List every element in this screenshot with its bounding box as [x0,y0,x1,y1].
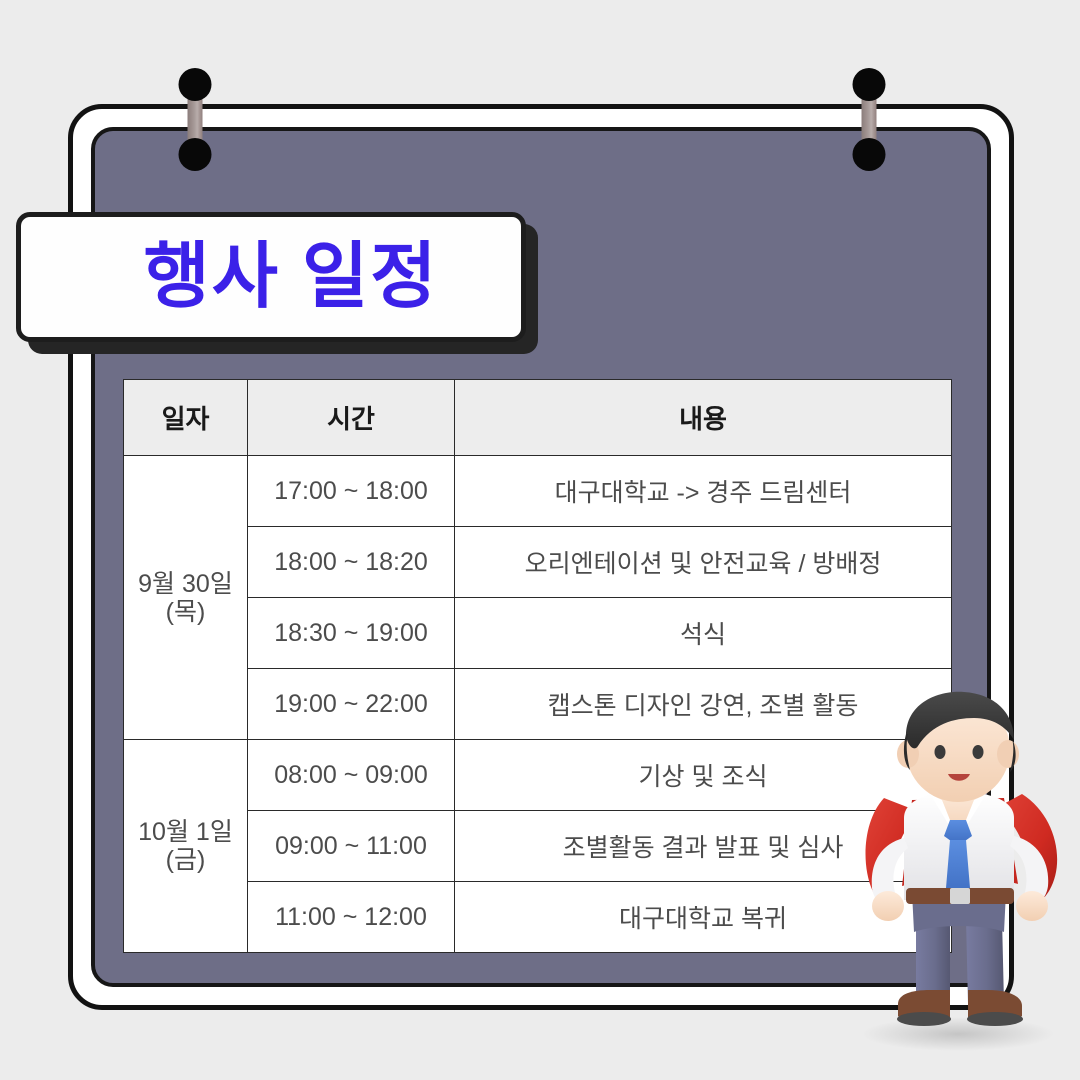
mascot-character [846,688,1072,1058]
hand-right [1016,891,1048,921]
shoe-left-sole [897,1012,951,1026]
cell-time: 09:00 ~ 11:00 [248,811,455,882]
pin-knob-top [178,68,211,101]
date-weekday: (목) [125,598,246,626]
table-header-row: 일자 시간 내용 [124,380,952,456]
table-row: 11:00 ~ 12:00 대구대학교 복귀 [124,882,952,953]
column-header-desc: 내용 [455,380,952,456]
table-row: 09:00 ~ 11:00 조별활동 결과 발표 및 심사 [124,811,952,882]
pin-knob-top [852,68,885,101]
date-value: 10월 1일 [138,818,233,846]
table-row: 18:00 ~ 18:20 오리엔테이션 및 안전교육 / 방배정 [124,527,952,598]
mascot-illustration [846,688,1072,1058]
cell-time: 18:30 ~ 19:00 [248,598,455,669]
cell-date: 9월 30일 (목) [124,456,248,740]
title-plate: 행사 일정 [16,212,538,354]
cell-description: 오리엔테이션 및 안전교육 / 방배정 [455,527,952,598]
hanging-pin-right [852,68,885,171]
belt-buckle [950,888,970,904]
cell-time: 11:00 ~ 12:00 [248,882,455,953]
schedule-table: 일자 시간 내용 9월 30일 (목) 17:00 ~ 18:00 대구대학교 … [123,379,952,953]
table-body: 9월 30일 (목) 17:00 ~ 18:00 대구대학교 -> 경주 드림센… [124,456,952,953]
column-header-time: 시간 [248,380,455,456]
hanging-pin-left [178,68,211,171]
cell-date: 10월 1일 (금) [124,740,248,953]
cell-time: 18:00 ~ 18:20 [248,527,455,598]
date-weekday: (금) [125,846,246,874]
eye-right [973,745,984,759]
cell-time: 19:00 ~ 22:00 [248,669,455,740]
table-row: 19:00 ~ 22:00 캡스톤 디자인 강연, 조별 활동 [124,669,952,740]
table-row: 9월 30일 (목) 17:00 ~ 18:00 대구대학교 -> 경주 드림센… [124,456,952,527]
table-row: 10월 1일 (금) 08:00 ~ 09:00 기상 및 조식 [124,740,952,811]
pin-knob-bottom [852,138,885,171]
shoe-right-sole [967,1012,1023,1026]
title-plate-box: 행사 일정 [16,212,526,342]
eye-left [935,745,946,759]
cell-description: 대구대학교 -> 경주 드림센터 [455,456,952,527]
cell-time: 08:00 ~ 09:00 [248,740,455,811]
cell-time: 17:00 ~ 18:00 [248,456,455,527]
poster-canvas: 행사 일정 일자 시간 내용 9월 30일 (목) 17:00 ~ 18:00 [0,0,1080,1080]
hand-left [872,891,904,921]
date-value: 9월 30일 [138,570,233,598]
table-head: 일자 시간 내용 [124,380,952,456]
page-title: 행사 일정 [104,241,439,313]
column-header-date: 일자 [124,380,248,456]
cell-description: 석식 [455,598,952,669]
mascot-ground-shadow [862,1017,1054,1051]
pin-knob-bottom [178,138,211,171]
ear-right [997,740,1019,768]
table-row: 18:30 ~ 19:00 석식 [124,598,952,669]
